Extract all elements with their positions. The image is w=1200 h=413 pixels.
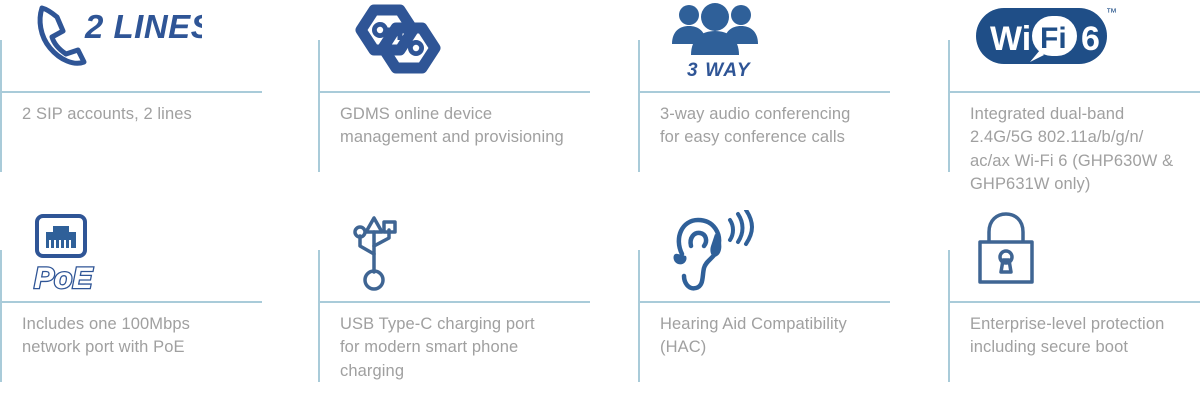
cell-horizontal-divider: [0, 91, 262, 93]
cell-horizontal-divider: [318, 301, 590, 303]
feature-cell-two-lines: 2 LINES 2 SIP accounts, 2 lines: [0, 0, 300, 203]
feature-description: 2 SIP accounts, 2 lines: [22, 103, 192, 126]
wifi-wi-label: Wi: [990, 20, 1031, 58]
cell-vertical-divider: [948, 250, 950, 382]
poe-label: PoE: [34, 262, 93, 295]
gdms-chip-icon: [340, 0, 450, 86]
cell-horizontal-divider: [318, 91, 590, 93]
cell-vertical-divider: [948, 40, 950, 172]
cell-horizontal-divider: [638, 301, 890, 303]
cell-horizontal-divider: [948, 91, 1200, 93]
two-lines-label: 2 LINES: [84, 8, 202, 45]
wifi-tm-label: ™: [1106, 7, 1117, 19]
feature-description: USB Type-C charging port for modern smar…: [340, 313, 535, 383]
cell-vertical-divider: [0, 40, 2, 172]
poe-ethernet-icon: PoE: [22, 210, 122, 296]
padlock-icon: [970, 210, 1060, 296]
cell-vertical-divider: [638, 40, 640, 172]
feature-description: Hearing Aid Compatibility (HAC): [660, 313, 847, 360]
feature-description: Enterprise-level protection including se…: [970, 313, 1164, 360]
three-way-conference-icon: 3 WAY: [660, 0, 770, 86]
feature-description: 3-way audio conferencing for easy confer…: [660, 103, 850, 150]
cell-vertical-divider: [318, 40, 320, 172]
feature-description: Includes one 100Mbps network port with P…: [22, 313, 190, 360]
feature-cell-poe: PoE Includes one 100Mbps network port wi…: [0, 210, 300, 413]
cell-horizontal-divider: [948, 301, 1200, 303]
cell-vertical-divider: [0, 250, 2, 382]
feature-grid: 2 LINES 2 SIP accounts, 2 lines: [0, 0, 1200, 413]
wifi-six-label: 6: [1081, 20, 1100, 58]
feature-cell-three-way: 3 WAY 3-way audio conferencing for easy …: [638, 0, 938, 203]
feature-description: GDMS online device management and provis…: [340, 103, 564, 150]
feature-cell-gdms: GDMS online device management and provis…: [318, 0, 628, 203]
cell-vertical-divider: [318, 250, 320, 382]
feature-description: Integrated dual-band 2.4G/5G 802.11a/b/g…: [970, 103, 1173, 197]
usb-type-c-icon: [340, 210, 430, 296]
cell-vertical-divider: [638, 250, 640, 382]
cell-horizontal-divider: [638, 91, 890, 93]
cell-horizontal-divider: [0, 301, 262, 303]
two-lines-phone-icon: 2 LINES: [22, 0, 202, 86]
feature-cell-hearing-aid: Hearing Aid Compatibility (HAC): [638, 210, 938, 413]
three-way-label: 3 WAY: [687, 60, 752, 80]
feature-cell-usb-type-c: USB Type-C charging port for modern smar…: [318, 210, 628, 413]
hearing-aid-ear-icon: [660, 210, 770, 296]
feature-cell-security: Enterprise-level protection including se…: [948, 210, 1200, 413]
feature-cell-wifi6: Wi Fi 6 ™ Integrated dual-band 2.4G/5G 8…: [948, 0, 1200, 203]
wifi-fi-label: Fi: [1040, 22, 1067, 55]
wifi-6-icon: Wi Fi 6 ™: [970, 0, 1120, 86]
